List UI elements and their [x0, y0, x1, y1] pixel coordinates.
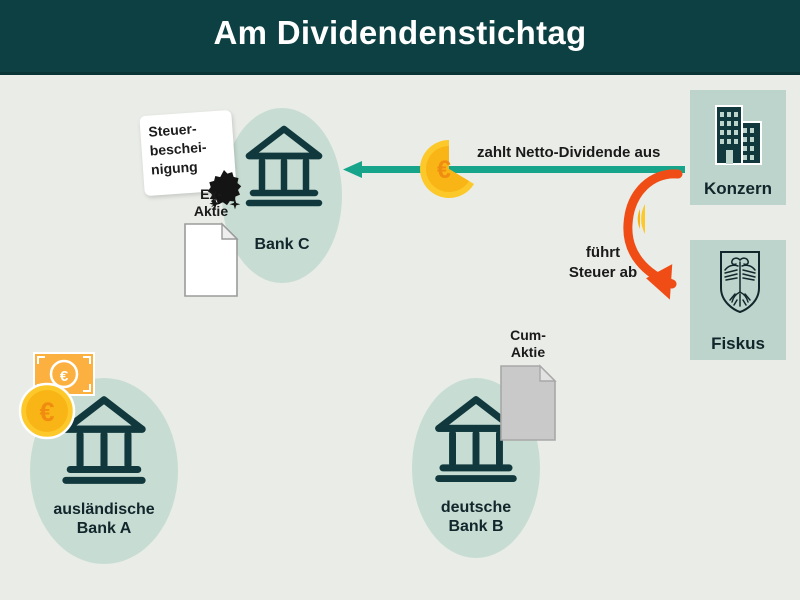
- bank-b-label-line-1: deutsche: [406, 498, 546, 517]
- note-line-3: nigung: [150, 157, 208, 180]
- bank-a-label: ausländische Bank A: [20, 500, 188, 538]
- page-title: Am Dividendenstichtag: [0, 14, 800, 52]
- bank-a-label-line-1: ausländische: [20, 500, 188, 519]
- bank-c-label: Bank C: [222, 235, 342, 254]
- cum-aktie-text: Cum- Aktie: [500, 327, 556, 403]
- svg-text:€: €: [39, 397, 54, 427]
- ex-aktie-line-1: Ex-: [184, 186, 238, 203]
- steuer-label-line-1: führt: [560, 243, 646, 263]
- steuerbescheinigung-text: Steuer- beschei- nigung: [148, 119, 209, 180]
- steuer-abfuehrung-label: führt Steuer ab: [560, 243, 646, 283]
- cum-aktie-line-1: Cum-: [500, 327, 556, 344]
- bank-a-label-line-2: Bank A: [20, 519, 188, 538]
- coin-slice-icon: [612, 202, 648, 236]
- bank-c-building-icon: [243, 120, 325, 210]
- euro-coin-with-slice-removed-icon: €: [422, 138, 476, 200]
- steuer-label-line-2: Steuer ab: [560, 263, 646, 283]
- cum-aktie-line-2: Aktie: [500, 344, 556, 361]
- netto-dividende-label: zahlt Netto-Dividende aus: [477, 143, 660, 163]
- bank-c-label-text: Bank C: [254, 236, 309, 253]
- bank-b-label-line-2: Bank B: [406, 517, 546, 536]
- ex-aktie-line-2: Aktie: [184, 203, 238, 220]
- note-line-2: beschei-: [149, 138, 207, 161]
- svg-text:€: €: [437, 156, 451, 184]
- fiskus-label: Fiskus: [690, 334, 786, 354]
- german-eagle-coat-of-arms-icon: [718, 250, 762, 314]
- office-buildings-icon: [710, 102, 768, 164]
- ex-aktie-text: Ex- Aktie: [184, 186, 238, 260]
- euro-coin-icon: €: [18, 382, 76, 440]
- header-divider: [0, 72, 800, 75]
- netto-dividende-label-text: zahlt Netto-Dividende aus: [477, 144, 660, 161]
- infographic-canvas: Am Dividendenstichtag Bank C Steuer- bes…: [0, 0, 800, 600]
- bank-b-label: deutsche Bank B: [406, 498, 546, 536]
